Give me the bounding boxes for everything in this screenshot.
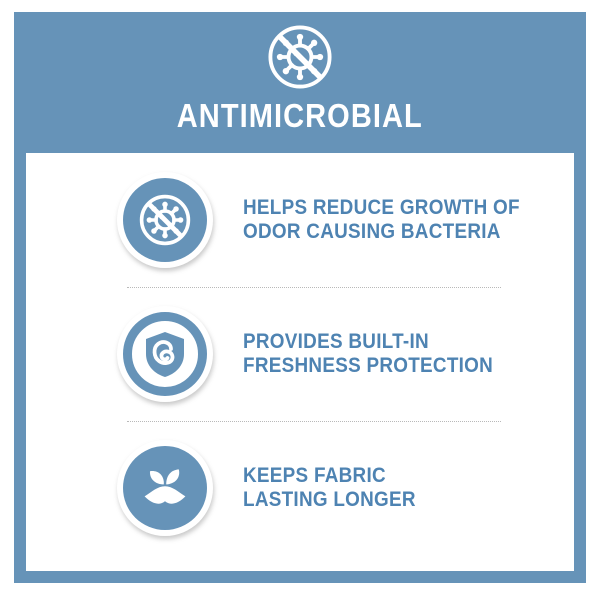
badge-disc (123, 178, 207, 262)
infographic-poster: ANTIMICROBIAL (0, 0, 600, 600)
feature-text-line: ODOR CAUSING BACTERIA (243, 220, 520, 244)
feature-text-line: KEEPS FABRIC (243, 464, 416, 488)
page-title: ANTIMICROBIAL (177, 99, 423, 132)
feature-row: HELPS REDUCE GROWTH OF ODOR CAUSING BACT… (26, 153, 574, 287)
feature-row: PROVIDES BUILT-IN FRESHNESS PROTECTION (26, 287, 574, 421)
feature-text-line: PROVIDES BUILT-IN (243, 330, 493, 354)
no-virus-icon (135, 190, 195, 250)
badge-disc (123, 446, 207, 530)
feature-badge-shield (117, 306, 213, 402)
feature-text: KEEPS FABRIC LASTING LONGER (243, 464, 416, 513)
feature-text: HELPS REDUCE GROWTH OF ODOR CAUSING BACT… (243, 196, 520, 245)
feature-badge-leaf (117, 440, 213, 536)
leaf-fabric-icon (135, 458, 195, 518)
feature-badge-no-virus (117, 172, 213, 268)
feature-text-line: HELPS REDUCE GROWTH OF (243, 196, 520, 220)
feature-text-line: LASTING LONGER (243, 488, 416, 512)
badge-disc (123, 312, 207, 396)
shield-swirl-icon (140, 329, 190, 379)
no-virus-icon (263, 20, 337, 94)
features-panel: HELPS REDUCE GROWTH OF ODOR CAUSING BACT… (26, 153, 574, 571)
feature-text-line: FRESHNESS PROTECTION (243, 354, 493, 378)
header-banner: ANTIMICROBIAL (14, 12, 586, 153)
feature-row: KEEPS FABRIC LASTING LONGER (26, 421, 574, 555)
blue-frame-border: ANTIMICROBIAL (14, 12, 586, 583)
feature-text: PROVIDES BUILT-IN FRESHNESS PROTECTION (243, 330, 493, 379)
